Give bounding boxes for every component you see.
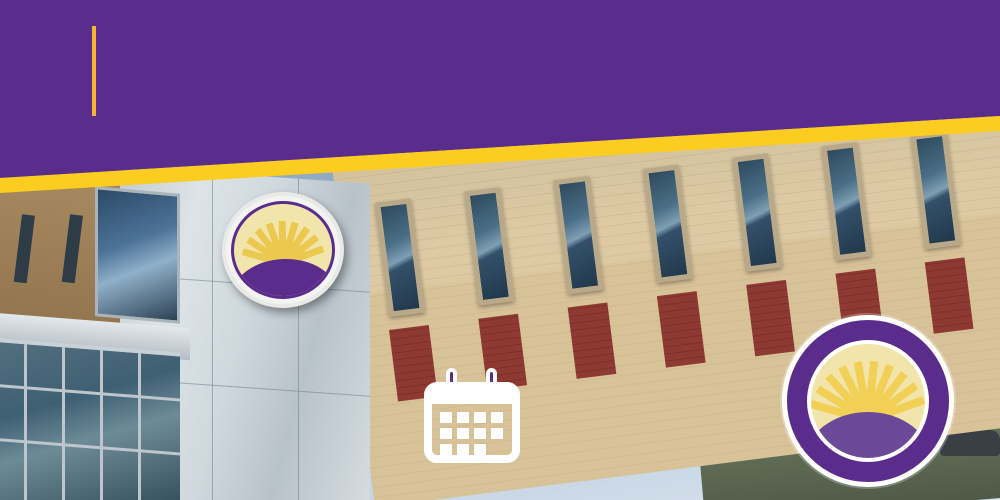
sign-face [232, 202, 333, 297]
mullion [62, 347, 65, 500]
window [554, 176, 604, 295]
upper-glass-window [95, 186, 180, 323]
mullion [24, 344, 27, 500]
sign-ring [229, 199, 336, 301]
seal-inner-circle [807, 340, 929, 462]
title-block [92, 26, 114, 116]
window [732, 153, 782, 272]
calendar-grid [440, 412, 506, 455]
calendar-cell [457, 428, 469, 439]
mullion [0, 384, 180, 402]
red-brick-panel [568, 302, 617, 378]
calendar-header-bar [432, 390, 512, 404]
calendar-cell [474, 412, 486, 423]
seal-sun-face [811, 344, 925, 458]
calendar-cell [440, 428, 452, 439]
window [464, 187, 514, 306]
calendar-icon [424, 368, 520, 463]
calendar-cell [491, 428, 503, 439]
red-brick-panel [657, 291, 706, 367]
calendar-cell [474, 428, 486, 439]
calendar-cell [440, 412, 452, 423]
mullion [100, 350, 103, 500]
window [911, 131, 961, 250]
glass-entrance [0, 338, 180, 500]
board-of-education-summary-banner [0, 0, 1000, 500]
mullion [0, 438, 180, 456]
panel-seam [212, 173, 213, 500]
calendar-cell [474, 444, 486, 455]
window [821, 142, 871, 261]
window [643, 164, 693, 283]
calendar-cell [440, 444, 452, 455]
accent-bar [92, 26, 96, 116]
mullion [138, 353, 141, 500]
spring-hill-schools-seal [782, 315, 954, 487]
calendar-cell [457, 412, 469, 423]
calendar-cell [457, 444, 469, 455]
window [375, 198, 425, 317]
calendar-cell [491, 412, 503, 423]
seal-arc-band [811, 412, 925, 458]
sign-arc-band [232, 257, 333, 297]
